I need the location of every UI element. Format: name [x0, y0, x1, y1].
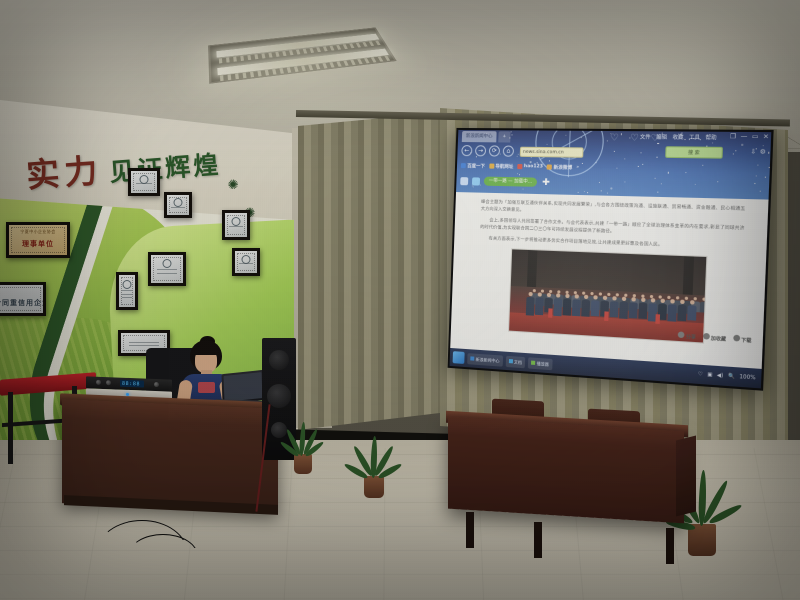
taskbar-item-document[interactable]: 文档 — [505, 355, 525, 368]
bookmark-weibo[interactable]: 新浪微博 — [547, 164, 572, 171]
favorite-button[interactable]: 加收藏 — [702, 333, 726, 343]
projection-screen: ♡ ♡ ♡ 新浪新闻中心 + 文件 编辑 收藏 工具 帮助 ❐ — ▭ ✕ — [448, 128, 774, 391]
certificate-f — [232, 248, 260, 276]
photo-person — [638, 297, 648, 321]
photo-person — [687, 300, 697, 325]
amplifier-digits: 88:88 — [122, 381, 140, 388]
certificate-d — [164, 192, 192, 218]
bookmark-label: 百度一下 — [467, 163, 485, 169]
taskbar-label: 文档 — [514, 356, 522, 368]
address-bar[interactable]: news.sina.com.cn — [520, 146, 584, 157]
start-button[interactable] — [453, 351, 465, 364]
award-plaque-gold: 宁夏中小企业协会 理事单位 — [6, 222, 70, 258]
potted-plant — [358, 436, 390, 498]
photo-person — [700, 297, 708, 316]
bookmark-label: 导航网址 — [495, 163, 513, 169]
new-tab-button[interactable]: + — [498, 131, 510, 142]
share-label: 分享 — [686, 335, 696, 341]
download-icon[interactable]: ⇩ — [750, 148, 756, 156]
share-button[interactable]: 分享 — [678, 331, 696, 341]
bookmarks-overflow-icon[interactable]: » — [576, 165, 579, 170]
tab-bar: 新浪新闻中心 + — [462, 131, 511, 144]
keyboard-stand-leg — [8, 392, 13, 464]
photo-person — [572, 294, 581, 318]
table-leg — [666, 528, 674, 564]
bookmark-baidu[interactable]: 百度一下 — [461, 163, 485, 169]
bookmark-label: 新浪微博 — [553, 164, 572, 170]
photo-person — [619, 296, 628, 320]
award-plaque-silver: 守合同重信用企业 — [0, 282, 46, 316]
zoom-level[interactable]: 100% — [739, 374, 755, 382]
plaque-line2: 理事单位 — [22, 239, 54, 249]
conference-room-photo: 实力见证辉煌 ✺ ✺ 宁夏中小企业协会 理事单位 守合同重信用企业 — [0, 0, 800, 600]
home-icon[interactable]: ⌂ — [503, 145, 514, 156]
article-page: 峰会主题为「加强互联互通伙伴关系,实现共同发展繁荣」,与会各方围绕政策沟通、设施… — [450, 192, 768, 369]
add-icon[interactable]: ✚ — [541, 178, 551, 186]
table-leg — [466, 512, 474, 548]
summit-group-photo — [508, 248, 707, 343]
settings-icon[interactable]: ⚙ — [760, 148, 766, 156]
tab-news[interactable]: 新浪新闻中心 — [462, 131, 497, 142]
taskbar-label: 新浪新闻中心 — [476, 353, 500, 366]
conference-table-side — [676, 436, 696, 517]
book-icon[interactable] — [472, 177, 480, 185]
photo-action-bar: 分享 加收藏 下载 — [678, 331, 752, 344]
photo-person — [581, 295, 590, 319]
photo-person — [677, 299, 687, 323]
forward-icon[interactable]: → — [475, 145, 486, 156]
zoom-icon[interactable]: 🔍 — [728, 373, 735, 380]
navigation-bar: ← → ⟳ ⌂ news.sina.com.cn — [461, 145, 583, 158]
certificate-a — [116, 272, 138, 310]
photo-person — [609, 296, 618, 320]
photo-person — [553, 293, 562, 317]
search-button[interactable]: 搜 索 — [665, 146, 723, 158]
chrome-right-icons: ⇩ ⚙ — [750, 148, 766, 156]
download-label: 下载 — [741, 338, 751, 344]
loading-pill: 一带一路 — 加载中… — [484, 177, 538, 187]
plaque-line2: 守合同重信用企业 — [0, 298, 46, 308]
reload-icon[interactable]: ⟳ — [489, 145, 500, 156]
photo-person — [667, 299, 677, 323]
table-leg — [534, 522, 542, 558]
curtain-left — [298, 112, 448, 430]
bookmark-label: hao123 — [524, 164, 543, 169]
photo-person — [526, 292, 535, 315]
bookmark-nav[interactable]: 导航网址 — [489, 163, 514, 169]
taskbar-item-browser[interactable]: 新浪新闻中心 — [467, 353, 502, 367]
back-icon[interactable]: ← — [461, 145, 472, 156]
taskbar-item-player[interactable]: 播放器 — [528, 357, 552, 370]
menu-edit[interactable]: 编辑 — [656, 132, 667, 143]
menu-help[interactable]: 帮助 — [705, 133, 717, 144]
menu-favorites[interactable]: 收藏 — [672, 132, 683, 143]
volume-icon[interactable]: ◀) — [717, 372, 724, 379]
menu-bar: 文件 编辑 收藏 工具 帮助 — [640, 132, 717, 143]
skin-icon[interactable]: ❐ — [730, 133, 736, 141]
window-controls: ❐ — ▭ ✕ — [730, 133, 769, 141]
heart-icon[interactable]: ♡ — [698, 371, 703, 378]
projected-browser-window: ♡ ♡ ♡ 新浪新闻中心 + 文件 编辑 收藏 工具 帮助 ❐ — ▭ ✕ — [450, 130, 772, 388]
bookmark-hao123[interactable]: hao123 — [517, 164, 543, 170]
menu-tools[interactable]: 工具 — [689, 133, 700, 144]
conference-table — [448, 417, 684, 524]
certificate-c — [128, 168, 160, 196]
menu-file[interactable]: 文件 — [640, 132, 651, 143]
photo-person — [591, 295, 600, 319]
taskbar-label: 播放器 — [536, 357, 549, 369]
headline-primary: 实力 — [25, 151, 104, 195]
photo-person — [629, 297, 638, 321]
close-icon[interactable]: ✕ — [763, 133, 769, 141]
display-icon[interactable]: ▣ — [707, 372, 713, 379]
photo-person — [563, 294, 572, 318]
photo-person — [535, 292, 544, 316]
favorite-label: 加收藏 — [711, 337, 726, 343]
minimize-icon[interactable]: — — [740, 133, 747, 141]
maximize-icon[interactable]: ▭ — [752, 133, 759, 141]
ceiling-light-fixture — [208, 27, 397, 83]
plaque-line1: 宁夏中小企业协会 — [20, 229, 55, 235]
cloud-icon[interactable] — [460, 177, 468, 185]
potted-plant — [290, 420, 316, 474]
article-paragraph: 峰会主题为「加强互联互通伙伴关系,实现共同发展繁荣」,与会各方围绕政策沟通、设施… — [481, 199, 746, 220]
browser-chrome: ♡ ♡ ♡ 新浪新闻中心 + 文件 编辑 收藏 工具 帮助 ❐ — ▭ ✕ — [456, 130, 771, 200]
certificate-b — [148, 252, 186, 286]
system-tray: ♡ ▣ ◀) 🔍 100% — [698, 371, 758, 382]
certificate-e — [222, 210, 250, 240]
headline-secondary: 见证辉煌 — [108, 150, 222, 187]
download-button[interactable]: 下载 — [733, 335, 752, 345]
